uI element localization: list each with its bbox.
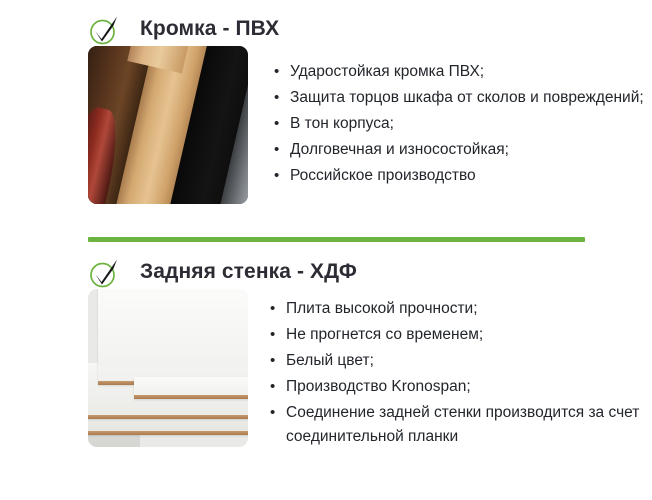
section-title-pvc-edge: Кромка - ПВХ [140, 14, 279, 44]
product-features-page: Кромка - ПВХ Ударостойкая кромка ПВХ; За… [0, 0, 652, 500]
hdf-panel-edge [88, 415, 248, 419]
list-item: Долговечная и износостойкая; [274, 138, 652, 162]
section-heading-row-pvc-edge: Кромка - ПВХ [88, 0, 652, 46]
pvc-edge-banding-photo [88, 46, 248, 204]
section-body-hdf-back-panel: Плита высокой прочности; Не прогнется со… [88, 289, 652, 451]
check-circle-icon [88, 14, 120, 46]
section-heading-row-hdf-back-panel: Задняя стенка - ХДФ [88, 243, 652, 289]
hdf-back-panel-photo [88, 289, 248, 447]
list-item: Российское производство [274, 164, 652, 188]
list-item: Ударостойкая кромка ПВХ; [274, 60, 652, 84]
hdf-panel-edge [134, 395, 248, 399]
section-hdf-back-panel: Задняя стенка - ХДФ Плита высокой [0, 243, 652, 451]
section-divider [88, 237, 585, 242]
list-item: Плита высокой прочности; [270, 297, 652, 321]
feature-list-pvc-edge: Ударостойкая кромка ПВХ; Защита торцов ш… [274, 60, 652, 190]
section-body-pvc-edge: Ударостойкая кромка ПВХ; Защита торцов ш… [88, 46, 652, 204]
list-item: В тон корпуса; [274, 112, 652, 136]
list-item: Белый цвет; [270, 349, 652, 373]
list-item: Производство Kronospan; [270, 375, 652, 399]
list-item: Защита торцов шкафа от сколов и поврежде… [274, 86, 652, 110]
hdf-panel-front [134, 377, 248, 399]
section-pvc-edge: Кромка - ПВХ Ударостойкая кромка ПВХ; За… [0, 0, 652, 204]
list-item: Соединение задней стенки производится за… [270, 401, 652, 449]
section-title-hdf-back-panel: Задняя стенка - ХДФ [140, 257, 357, 287]
hdf-panel-edge [88, 431, 248, 435]
list-item: Не прогнется со временем; [270, 323, 652, 347]
hdf-panel-top [98, 289, 248, 385]
feature-list-hdf-back-panel: Плита высокой прочности; Не прогнется со… [270, 297, 652, 451]
check-circle-icon [88, 257, 120, 289]
